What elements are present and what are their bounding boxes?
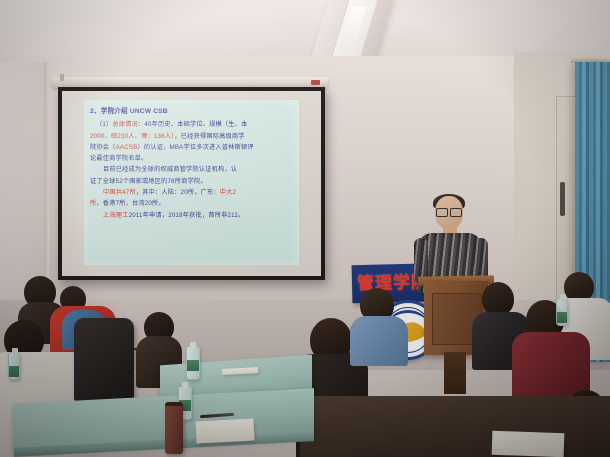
slide-line: 中国共47所，其中：人陆：20所，广东：中大2: [90, 187, 294, 198]
slide-text-segment: 论最佳商学院名单。: [90, 155, 148, 162]
slide-title: 2、学院介绍 UNCW CSB: [90, 106, 294, 117]
paper-sheet[interactable]: [492, 431, 565, 457]
audience-person: [352, 288, 404, 360]
thermos-cup[interactable]: [165, 402, 183, 454]
slide-text-segment: 2000、硕: [90, 133, 117, 140]
roller-bracket: [60, 74, 64, 81]
slide-text-segment: 230人、: [117, 133, 141, 140]
podium-base: [444, 352, 466, 394]
slide-text-segment: 院协会（: [90, 144, 116, 151]
projection-screen: 2、学院介绍 UNCW CSB （1）总体情况：40年历史、本硕学位、规模（生、…: [58, 87, 325, 280]
slide-text-segment: 2011年申请，2018年获批，首所非211。: [129, 212, 245, 219]
slide-text-segment: （1）: [96, 121, 112, 128]
slide-text-segment: ）的认证，MBA学位多次进入普林斯顿评: [138, 144, 254, 151]
slide-line: 所，香港7所，台湾20所。: [90, 198, 294, 209]
slide-body: （1）总体情况：40年历史、本硕学位、规模（生、本2000、硕230人、博：13…: [90, 119, 294, 221]
water-bottle[interactable]: [186, 346, 200, 380]
presentation-slide: 2、学院介绍 UNCW CSB （1）总体情况：40年历史、本硕学位、规模（生、…: [84, 100, 299, 265]
slide-line: 上海理工2011年申请，2018年获批，首所非211。: [90, 210, 294, 221]
chair[interactable]: [74, 318, 134, 402]
water-bottle[interactable]: [8, 352, 20, 380]
slide-text-segment: 中大2: [220, 189, 236, 196]
slide-text-segment: 40年历史、本硕学位、规模（生、本: [144, 121, 247, 128]
glasses-icon: [436, 208, 462, 215]
slide-text-segment: ，其中：人陆：20所，广东：: [136, 189, 220, 196]
slide-line: 目前已经成为全球的权威商管学院认证机构，认: [90, 164, 294, 175]
slide-line: （1）总体情况：40年历史、本硕学位、规模（生、本: [90, 119, 294, 130]
roller-pull-tab[interactable]: [311, 80, 320, 85]
paper-sheet[interactable]: [195, 418, 254, 443]
water-bottle[interactable]: [556, 298, 568, 326]
slide-text-segment: 证了全球52个国家或地区的76所商学院。: [90, 178, 207, 185]
screen-surface: 2、学院介绍 UNCW CSB （1）总体情况：40年历史、本硕学位、规模（生、…: [62, 91, 321, 276]
slide-text-segment: ，香港7所，台湾20所。: [96, 200, 164, 207]
slide-text-segment: 博：136人）: [141, 133, 174, 140]
slide-text-segment: ，已经获得国际高级商学: [174, 133, 244, 140]
slide-line: 论最佳商学院名单。: [90, 153, 294, 164]
slide-text-segment: 总体情况：: [112, 121, 144, 128]
slide-line: 院协会（AACSB）的认证，MBA学位多次进入普林斯顿评: [90, 142, 294, 153]
slide-text-segment: AACSB: [116, 144, 138, 151]
slide-line: 2000、硕230人、博：136人），已经获得国际高级商学: [90, 131, 294, 142]
slide-line: 证了全球52个国家或地区的76所商学院。: [90, 176, 294, 187]
slide-text-segment: 上海理工: [103, 212, 129, 219]
person-body-blue-shirt: [350, 316, 408, 366]
person-head: [482, 282, 514, 316]
audience-person: [512, 300, 584, 400]
lecture-hall-photo: 2、学院介绍 UNCW CSB （1）总体情况：40年历史、本硕学位、规模（生、…: [0, 0, 610, 457]
door-handle[interactable]: [560, 182, 565, 216]
slide-text-segment: 目前已经成为全球的权威商管学院认证机构，认: [103, 166, 237, 173]
slide-text-segment: 中国共47所: [103, 189, 136, 196]
